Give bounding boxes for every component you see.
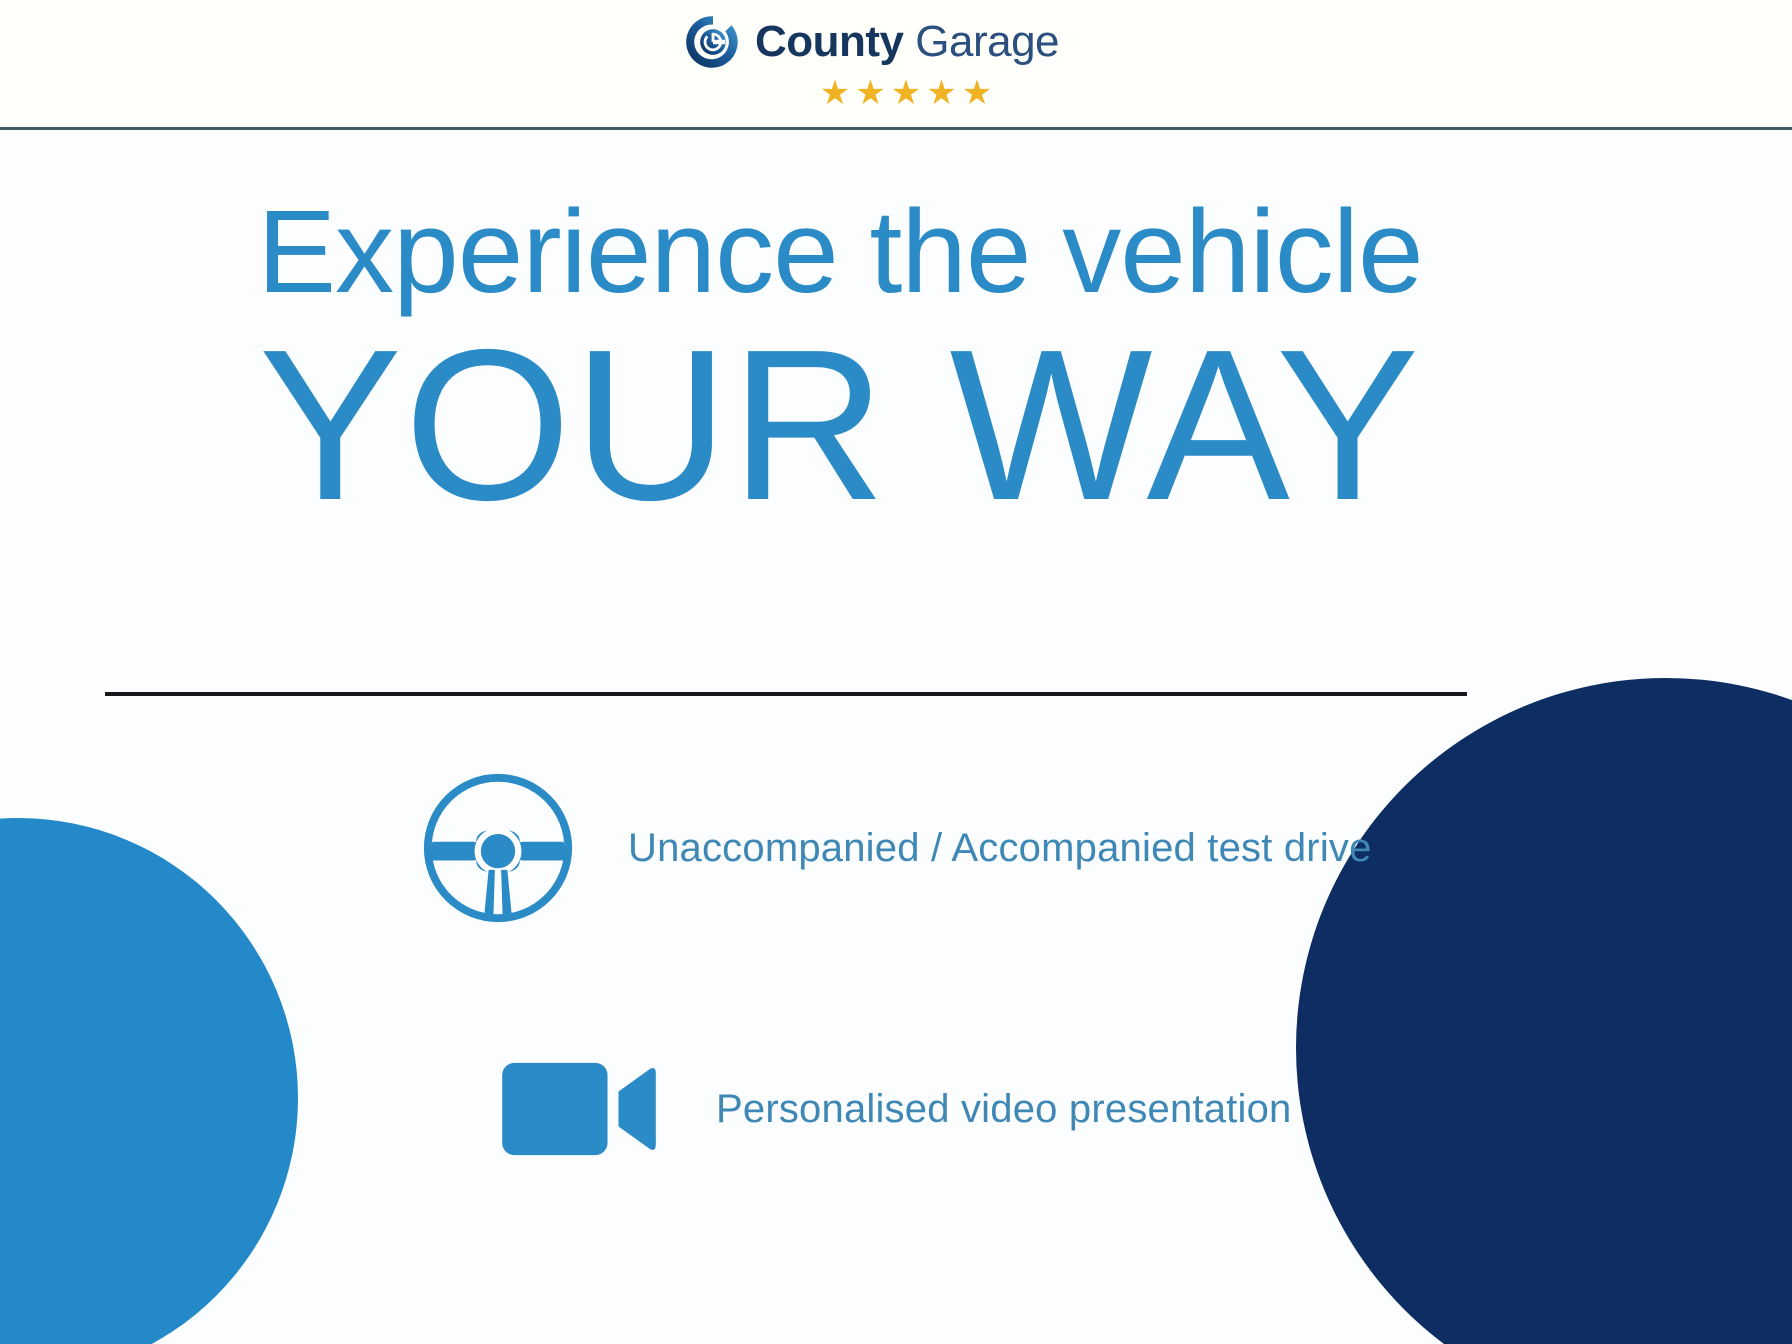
headline-block: Experience the vehicle YOUR WAY <box>0 190 1680 532</box>
promo-poster: Experience the vehicle YOUR WAY Unaccomp… <box>0 0 1792 1344</box>
brand-lockup: County Garage ★ ★ ★ ★ ★ <box>685 14 1059 110</box>
star-icon: ★ <box>820 76 850 110</box>
feature-label-test-drive: Unaccompanied / Accompanied test drive <box>628 826 1372 871</box>
steering-wheel-icon <box>420 770 576 926</box>
star-icon: ★ <box>855 76 885 110</box>
star-icon: ★ <box>962 76 992 110</box>
headline-line-1: Experience the vehicle <box>0 190 1680 315</box>
video-camera-icon <box>500 1054 658 1164</box>
brand-name-bold: County <box>755 17 904 66</box>
feature-list: Unaccompanied / Accompanied test drive P… <box>0 770 1792 1164</box>
feature-label-video: Personalised video presentation <box>716 1087 1291 1132</box>
star-icon: ★ <box>926 76 956 110</box>
county-garage-logo-icon <box>685 14 741 70</box>
brand-row: County Garage <box>685 14 1059 70</box>
header-divider <box>0 127 1792 130</box>
brand-name-light: Garage <box>915 17 1059 66</box>
star-rating: ★ ★ ★ ★ ★ <box>820 76 992 110</box>
brand-name: County Garage <box>755 20 1059 64</box>
feature-item-test-drive: Unaccompanied / Accompanied test drive <box>0 770 1792 926</box>
section-divider <box>105 692 1467 696</box>
poster-header: County Garage ★ ★ ★ ★ ★ <box>0 0 1792 128</box>
poster-canvas: Experience the vehicle YOUR WAY Unaccomp… <box>0 130 1792 1344</box>
star-icon: ★ <box>891 76 921 110</box>
feature-item-video: Personalised video presentation <box>0 1054 1792 1164</box>
headline-line-2: YOUR WAY <box>0 317 1680 532</box>
